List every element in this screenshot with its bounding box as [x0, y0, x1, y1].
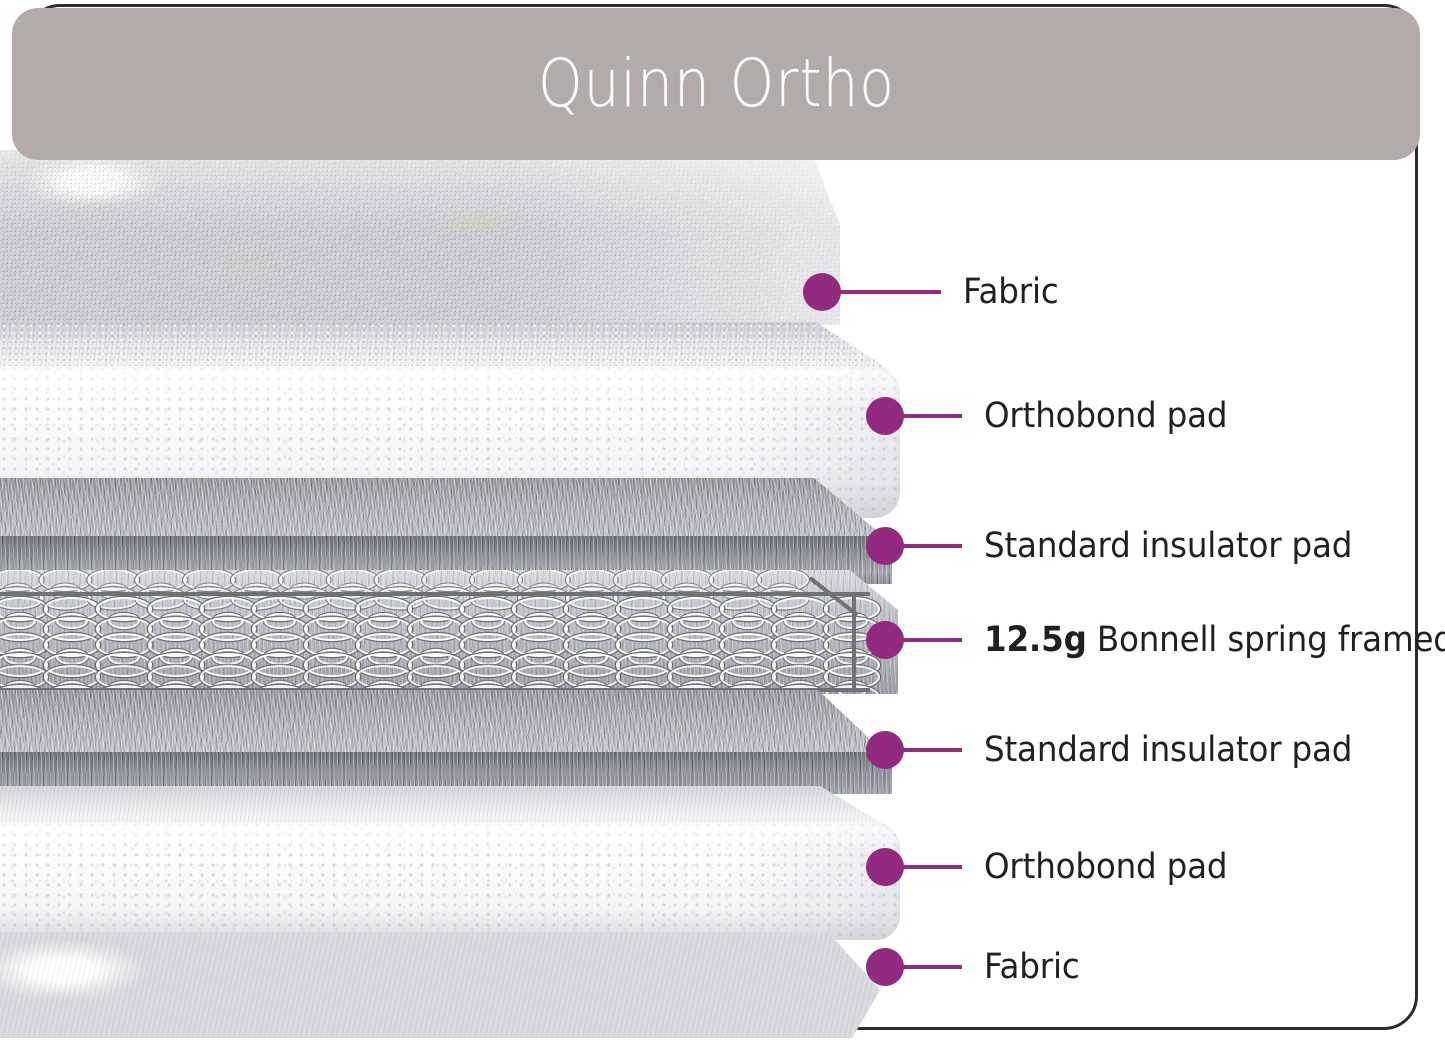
callout-label: Fabric: [963, 272, 1059, 312]
callout-leader-line: [900, 544, 962, 548]
product-layer-diagram-card: Quinn Ortho: [0, 0, 1445, 1041]
callout-fabric-bottom[interactable]: Fabric: [866, 947, 1087, 987]
callout-leader-line: [900, 865, 962, 869]
callout-leader-line: [900, 414, 962, 418]
callout-spring-unit[interactable]: 12.5g Bonnell spring framed: [866, 620, 1445, 660]
callout-dot-icon: [866, 848, 904, 886]
callout-label-group: Fabric Orthobond pad Standard insulator …: [0, 0, 1445, 1041]
callout-dot-icon: [866, 731, 904, 769]
callout-insulator-top[interactable]: Standard insulator pad: [866, 526, 1380, 566]
callout-leader-line: [900, 638, 962, 642]
callout-dot-icon: [803, 273, 841, 311]
callout-dot-icon: [866, 948, 904, 986]
callout-label: Standard insulator pad: [984, 730, 1352, 770]
callout-leader-line: [900, 748, 962, 752]
callout-fabric-top[interactable]: Fabric: [803, 272, 1066, 312]
callout-orthobond-bottom[interactable]: Orthobond pad: [866, 847, 1246, 887]
callout-dot-icon: [866, 621, 904, 659]
callout-insulator-bottom[interactable]: Standard insulator pad: [866, 730, 1380, 770]
callout-label: Standard insulator pad: [984, 526, 1352, 566]
callout-label: Orthobond pad: [984, 396, 1227, 436]
callout-leader-line: [900, 965, 962, 969]
callout-label: 12.5g Bonnell spring framed: [984, 620, 1445, 660]
callout-dot-icon: [866, 527, 904, 565]
callout-label-rest: Bonnell spring framed: [1087, 620, 1445, 660]
callout-label-emphasis: 12.5g: [984, 620, 1087, 660]
callout-orthobond-top[interactable]: Orthobond pad: [866, 396, 1246, 436]
callout-label: Orthobond pad: [984, 847, 1227, 887]
callout-dot-icon: [866, 397, 904, 435]
callout-leader-line: [837, 290, 941, 294]
callout-label: Fabric: [984, 947, 1080, 987]
